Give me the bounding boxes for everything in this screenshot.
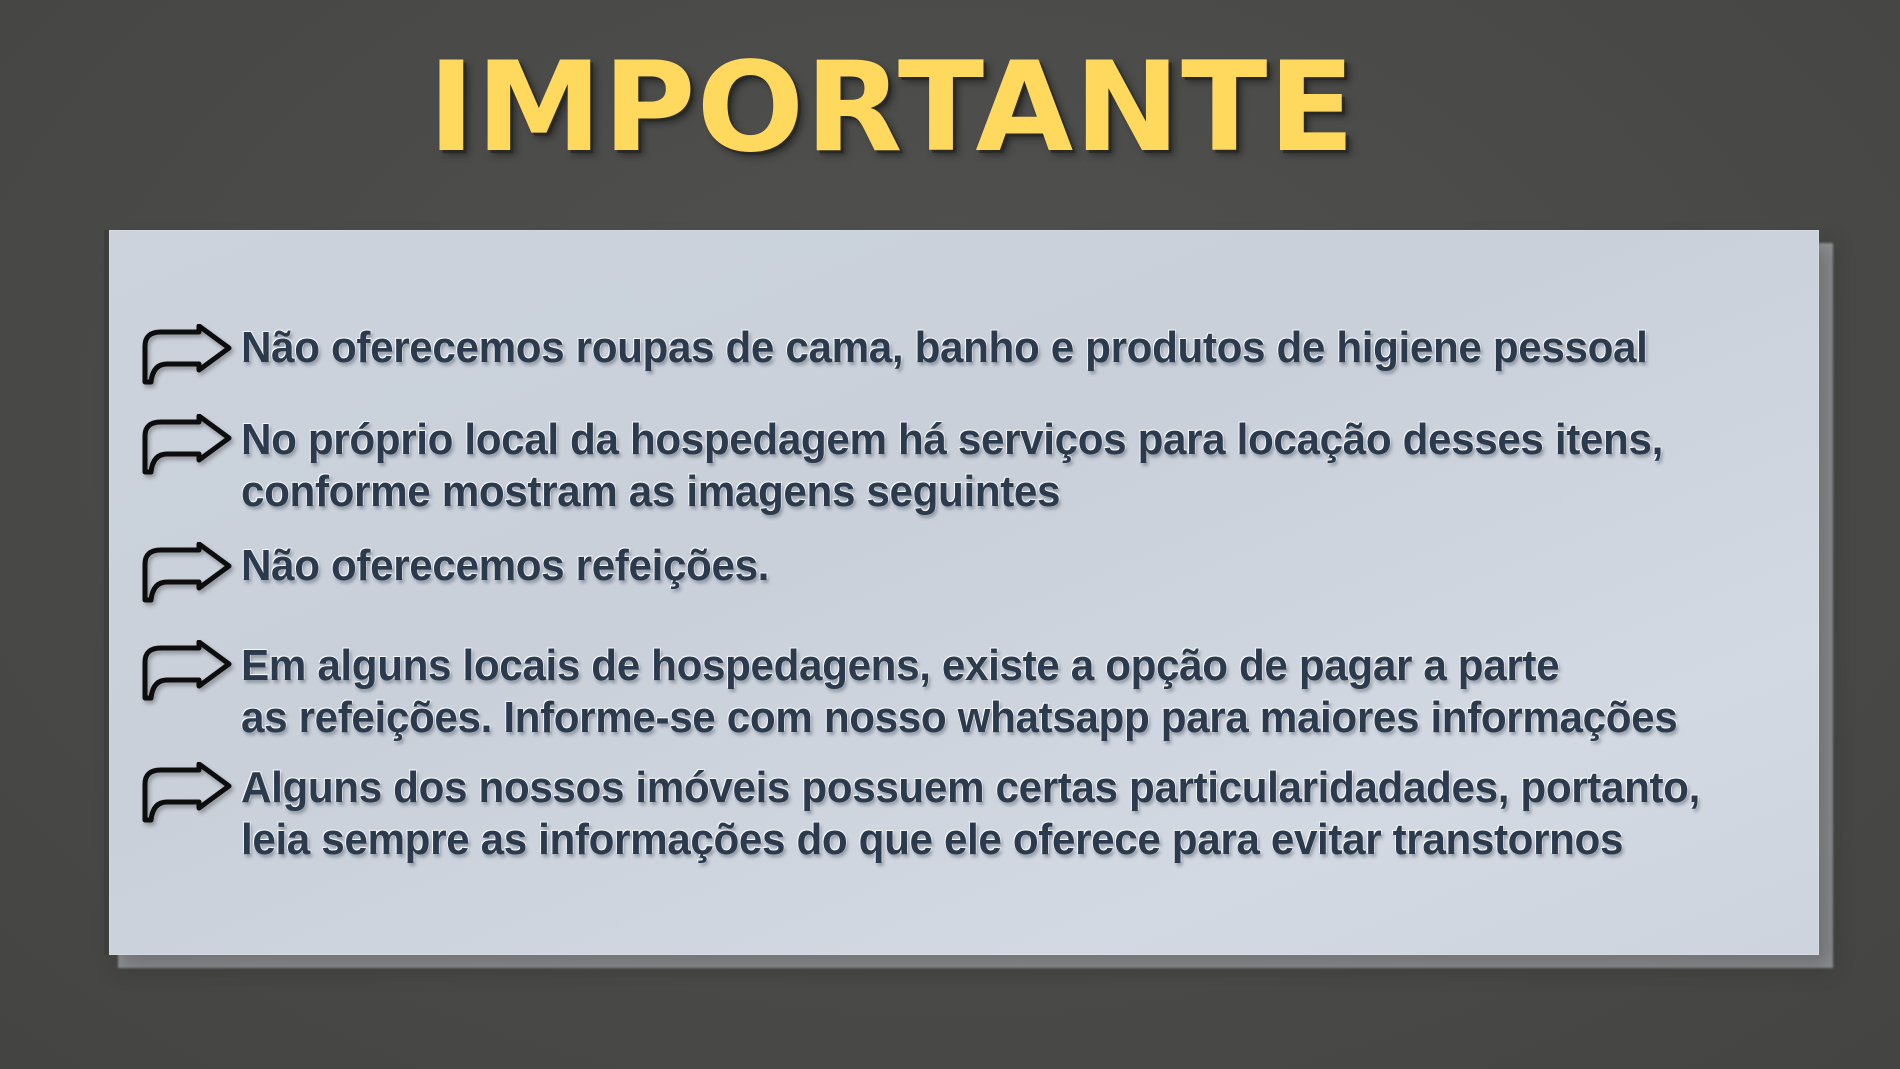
- list-item: Alguns dos nossos imóveis possuem certas…: [137, 760, 1791, 866]
- list-item-label: Em alguns locais de hospedagens, existe …: [241, 638, 1677, 744]
- list-item: Não oferecemos roupas de cama, banho e p…: [137, 322, 1791, 386]
- information-panel: Não oferecemos roupas de cama, banho e p…: [104, 230, 1819, 955]
- curved-right-arrow-icon: [137, 640, 233, 702]
- curved-right-arrow-icon: [137, 324, 233, 386]
- list-item-label: Não oferecemos roupas de cama, banho e p…: [241, 322, 1647, 372]
- page-title-container: IMPORTANTE: [0, 46, 1900, 170]
- panel-content: Não oferecemos roupas de cama, banho e p…: [109, 230, 1819, 955]
- list-item-label: Alguns dos nossos imóveis possuem certas…: [241, 760, 1700, 866]
- page-title: IMPORTANTE: [428, 46, 1356, 170]
- curved-right-arrow-icon: [137, 414, 233, 476]
- list-item: Em alguns locais de hospedagens, existe …: [137, 638, 1791, 744]
- list-item: Não oferecemos refeições.: [137, 540, 1791, 604]
- list-item-label: No próprio local da hospedagem há serviç…: [241, 412, 1663, 518]
- curved-right-arrow-icon: [137, 542, 233, 604]
- slide-background: IMPORTANTE Não oferecemos roupas de cama…: [0, 0, 1900, 1069]
- curved-right-arrow-icon: [137, 762, 233, 824]
- list-item: No próprio local da hospedagem há serviç…: [137, 412, 1791, 518]
- list-item-label: Não oferecemos refeições.: [241, 540, 769, 590]
